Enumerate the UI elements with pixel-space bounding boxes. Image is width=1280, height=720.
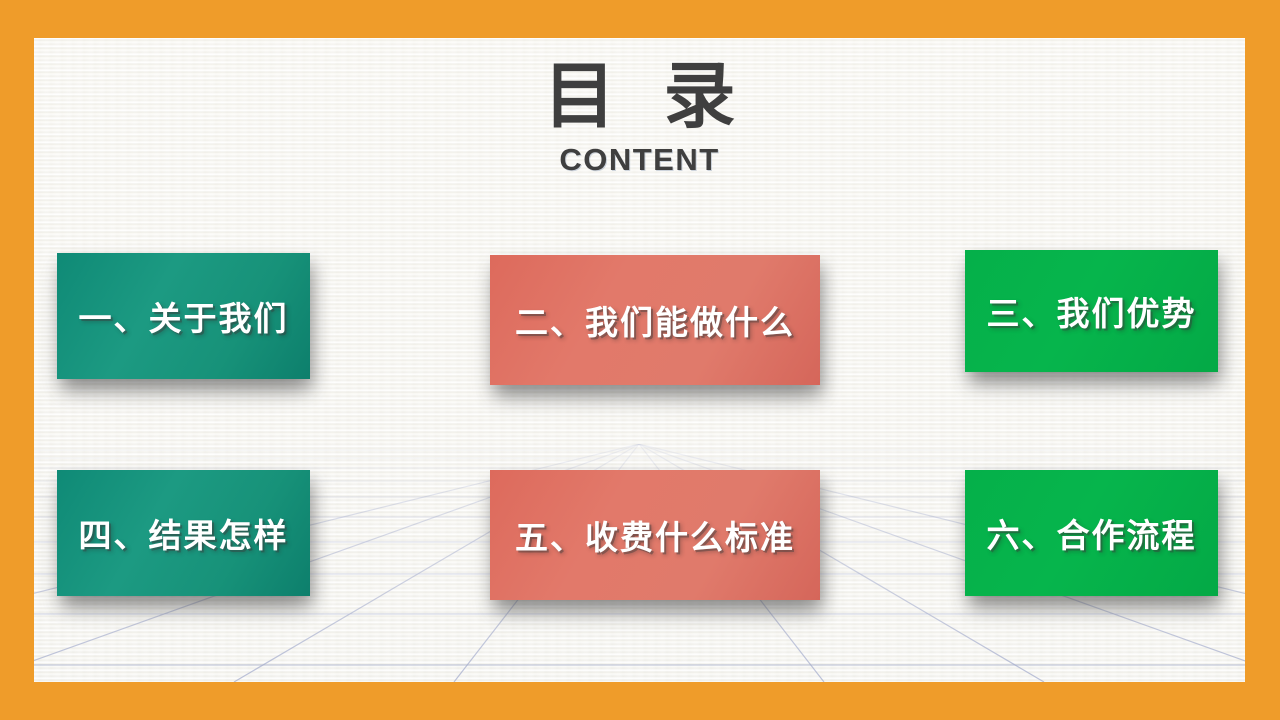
title-english: CONTENT [34, 142, 1245, 178]
page-title: 目 录 CONTENT [34, 60, 1245, 178]
content-card-1[interactable]: 一、关于我们 [57, 253, 310, 379]
content-card-2[interactable]: 二、我们能做什么 [490, 255, 820, 385]
title-chinese: 目 录 [34, 60, 1245, 136]
content-card-5-label: 五、收费什么标准 [515, 511, 795, 559]
content-card-6[interactable]: 六、合作流程 [965, 470, 1218, 596]
content-card-5[interactable]: 五、收费什么标准 [490, 470, 820, 600]
content-card-3-label: 三、我们优势 [987, 287, 1197, 335]
content-card-6-label: 六、合作流程 [987, 509, 1197, 557]
content-card-2-label: 二、我们能做什么 [515, 296, 795, 344]
slide-canvas: 目 录 CONTENT 一、关于我们 二、我们能做什么 三、我们优势 四、结果怎… [34, 38, 1245, 682]
slide-root: 目 录 CONTENT 一、关于我们 二、我们能做什么 三、我们优势 四、结果怎… [0, 0, 1280, 720]
content-card-3[interactable]: 三、我们优势 [965, 250, 1218, 372]
content-card-4[interactable]: 四、结果怎样 [57, 470, 310, 596]
content-card-4-label: 四、结果怎样 [79, 509, 289, 557]
content-card-1-label: 一、关于我们 [79, 292, 289, 340]
